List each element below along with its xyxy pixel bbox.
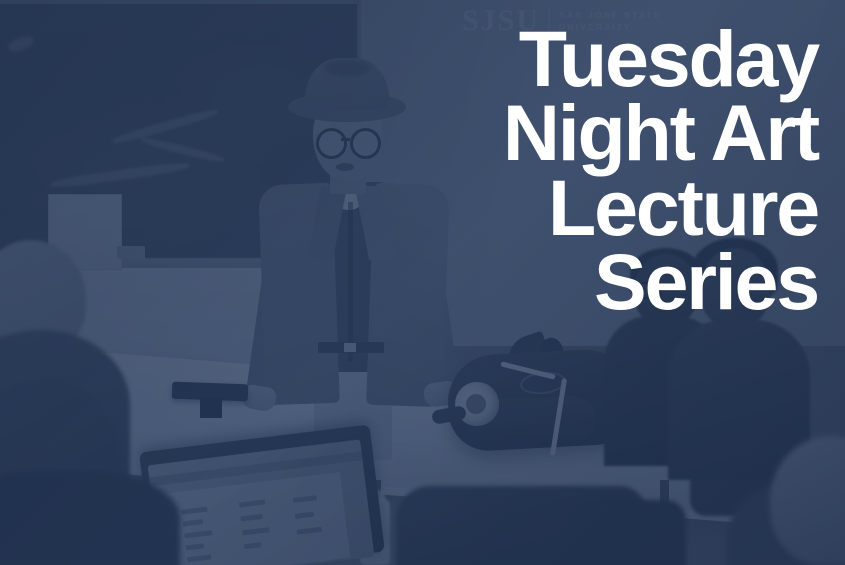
promo-banner: SJSU SAN JOSÉ STATE UNIVERSITY [0,0,845,565]
headline-line-3: Lecture [318,171,818,245]
headline: Tuesday Night Art Lecture Series [318,22,818,319]
headline-line-2: Night Art [318,96,818,170]
headline-line-4: Series [318,245,818,319]
headline-line-1: Tuesday [318,22,818,96]
